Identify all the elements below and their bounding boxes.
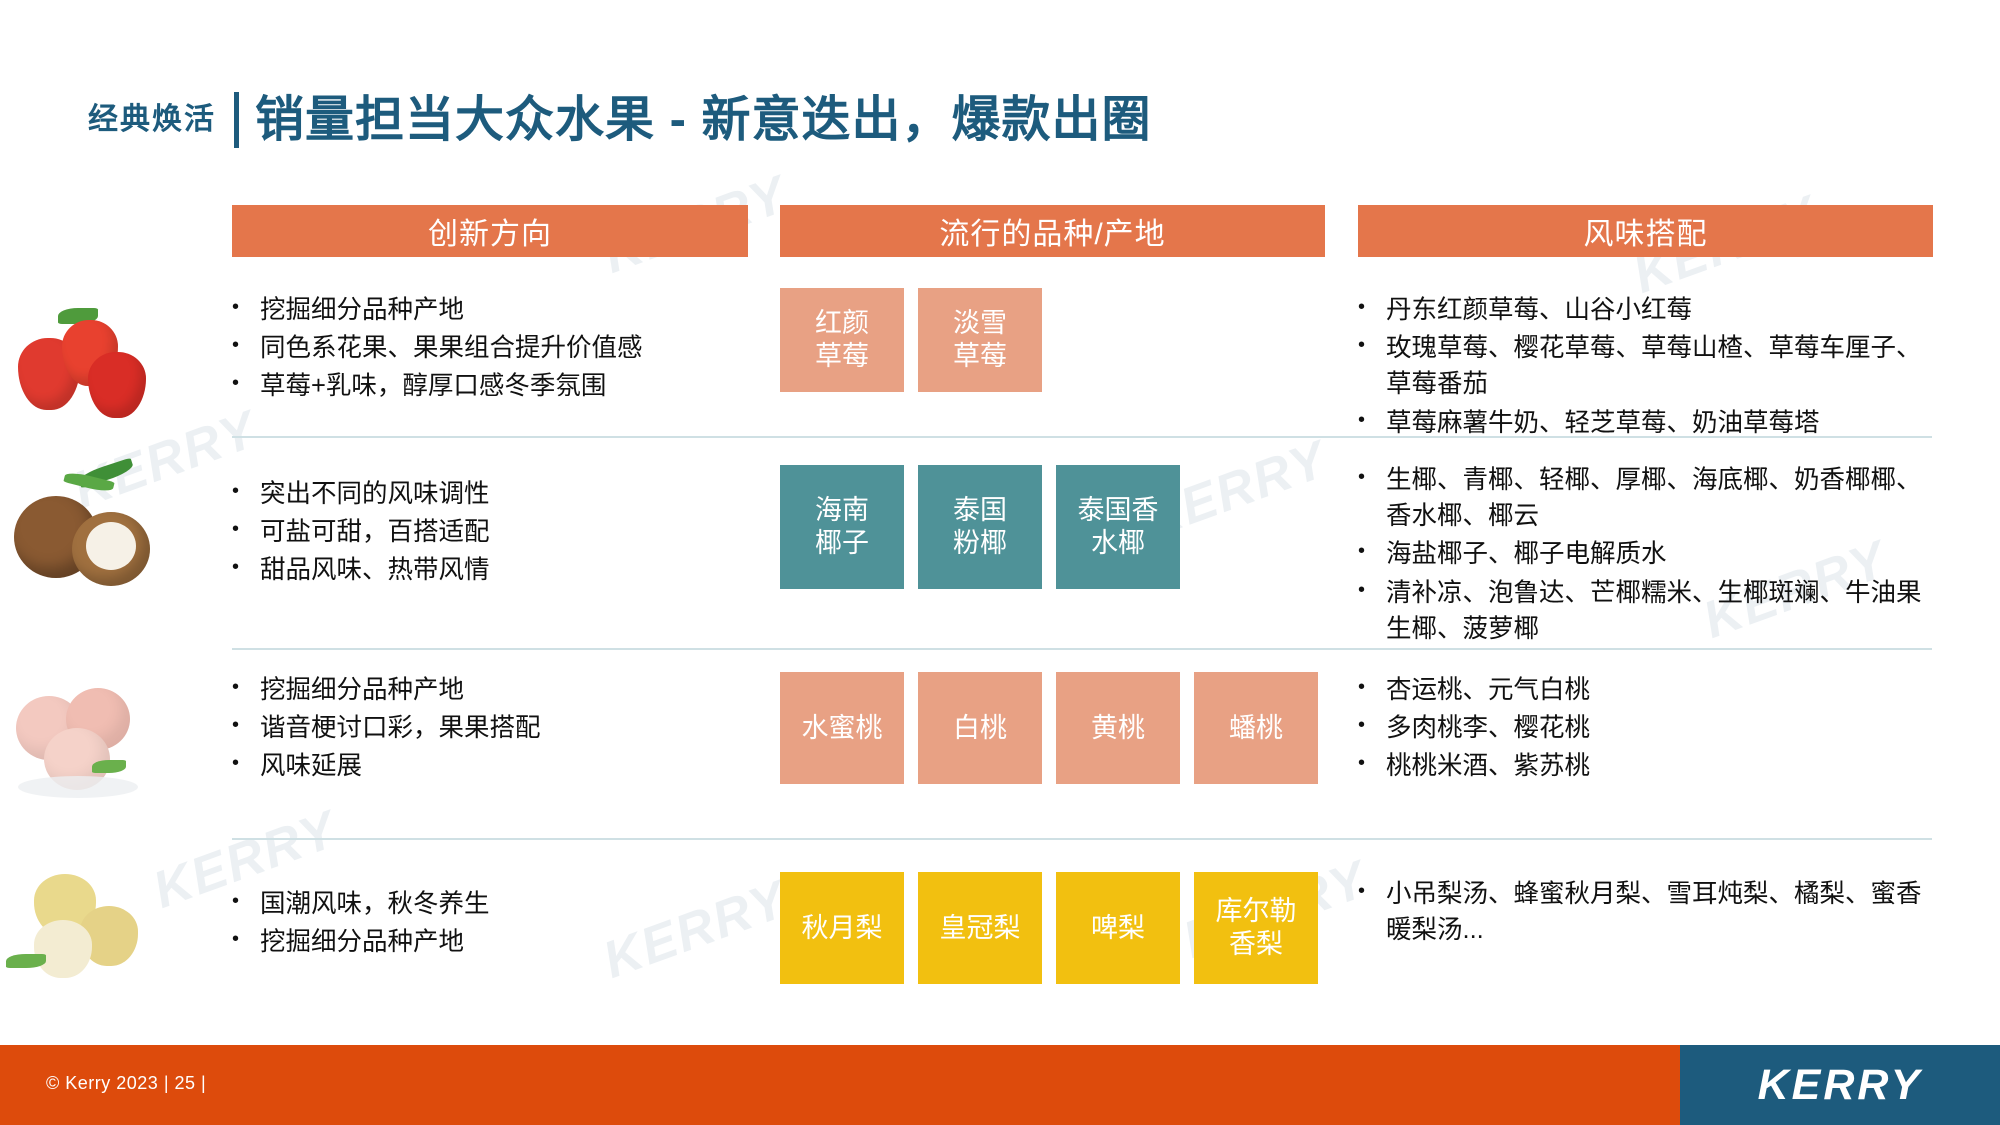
- list-item: •多肉桃李、樱花桃: [1358, 710, 1938, 746]
- variety-chip-group: 秋月梨皇冠梨啤梨库尔勒香梨: [780, 872, 1318, 984]
- title-eyebrow: 经典焕活: [88, 105, 234, 135]
- list-item: •生椰、青椰、轻椰、厚椰、海底椰、奶香椰椰、香水椰、椰云: [1358, 462, 1938, 534]
- bullet-dot: •: [232, 672, 260, 708]
- flavor-pairing-list: •生椰、青椰、轻椰、厚椰、海底椰、奶香椰椰、香水椰、椰云•海盐椰子、椰子电解质水…: [1358, 462, 1938, 649]
- list-item: •海盐椰子、椰子电解质水: [1358, 536, 1938, 572]
- variety-chip-label: 啤梨: [1091, 913, 1145, 943]
- bullet-dot: •: [1358, 536, 1386, 572]
- list-item-label: 生椰、青椰、轻椰、厚椰、海底椰、奶香椰椰、香水椰、椰云: [1386, 462, 1938, 534]
- list-item: •挖掘细分品种产地: [232, 672, 732, 708]
- variety-chip[interactable]: 海南椰子: [780, 465, 904, 589]
- list-item: •风味延展: [232, 748, 732, 784]
- row-divider: [232, 838, 1932, 840]
- variety-chip-label: 泰国香: [1078, 495, 1159, 525]
- variety-chip[interactable]: 秋月梨: [780, 872, 904, 984]
- list-item-label: 突出不同的风味调性: [260, 476, 732, 512]
- bullet-dot: •: [1358, 292, 1386, 328]
- variety-chip[interactable]: 蟠桃: [1194, 672, 1318, 784]
- variety-chip-label: 椰子: [815, 528, 869, 558]
- bullet-dot: •: [232, 330, 260, 366]
- bullet-dot: •: [232, 552, 260, 588]
- strawberry-icon: [0, 290, 166, 440]
- bullet-dot: •: [232, 476, 260, 512]
- list-item-label: 草莓+乳味，醇厚口感冬季氛围: [260, 368, 732, 404]
- list-item: •挖掘细分品种产地: [232, 292, 732, 328]
- list-item-label: 小吊梨汤、蜂蜜秋月梨、雪耳炖梨、橘梨、蜜香暖梨汤...: [1386, 876, 1938, 948]
- list-item-label: 海盐椰子、椰子电解质水: [1386, 536, 1938, 572]
- bullet-dot: •: [232, 710, 260, 746]
- copyright-text: © Kerry 2023 | 25 |: [46, 1073, 206, 1094]
- list-item: •桃桃米酒、紫苏桃: [1358, 748, 1938, 784]
- coconut-icon: [0, 460, 166, 610]
- list-item: •可盐可甜，百搭适配: [232, 514, 732, 550]
- column-header-innovation: 创新方向: [232, 205, 748, 257]
- innovation-directions-list: •突出不同的风味调性•可盐可甜，百搭适配•甜品风味、热带风情: [232, 476, 732, 591]
- list-item-label: 桃桃米酒、紫苏桃: [1386, 748, 1938, 784]
- bullet-dot: •: [1358, 462, 1386, 534]
- variety-chip-label: 草莓: [953, 341, 1007, 371]
- list-item: •同色系花果、果果组合提升价值感: [232, 330, 732, 366]
- variety-chip[interactable]: 皇冠梨: [918, 872, 1042, 984]
- list-item-label: 国潮风味，秋冬养生: [260, 886, 732, 922]
- list-item-label: 挖掘细分品种产地: [260, 924, 732, 960]
- variety-chip[interactable]: 啤梨: [1056, 872, 1180, 984]
- kerry-logo-text: KERRY: [1758, 1061, 1923, 1110]
- bullet-dot: •: [1358, 575, 1386, 647]
- list-item-label: 谐音梗讨口彩，果果搭配: [260, 710, 732, 746]
- list-item-label: 甜品风味、热带风情: [260, 552, 732, 588]
- variety-chip-group: 海南椰子泰国粉椰泰国香水椰: [780, 465, 1180, 589]
- list-item: •玫瑰草莓、樱花草莓、草莓山楂、草莓车厘子、草莓番茄: [1358, 330, 1938, 402]
- list-item-label: 杏运桃、元气白桃: [1386, 672, 1938, 708]
- variety-chip-label: 蟠桃: [1229, 713, 1283, 743]
- bullet-dot: •: [232, 368, 260, 404]
- variety-chip-label: 草莓: [815, 341, 869, 371]
- list-item: •国潮风味，秋冬养生: [232, 886, 732, 922]
- innovation-directions-list: •国潮风味，秋冬养生•挖掘细分品种产地: [232, 886, 732, 962]
- variety-chip-label: 水蜜桃: [802, 713, 883, 743]
- innovation-directions-list: •挖掘细分品种产地•同色系花果、果果组合提升价值感•草莓+乳味，醇厚口感冬季氛围: [232, 292, 732, 407]
- bullet-dot: •: [232, 514, 260, 550]
- variety-chip-label: 黄桃: [1091, 713, 1145, 743]
- variety-chip-label: 香梨: [1229, 929, 1283, 959]
- column-header-varieties: 流行的品种/产地: [780, 205, 1325, 257]
- list-item-label: 挖掘细分品种产地: [260, 292, 732, 328]
- variety-chip[interactable]: 白桃: [918, 672, 1042, 784]
- list-item: •突出不同的风味调性: [232, 476, 732, 512]
- variety-chip-label: 粉椰: [953, 528, 1007, 558]
- variety-chip-label: 水椰: [1091, 528, 1145, 558]
- variety-chip[interactable]: 红颜草莓: [780, 288, 904, 392]
- page-title: 经典焕活 销量担当大众水果 - 新意迭出，爆款出圈: [88, 92, 1152, 148]
- list-item-label: 风味延展: [260, 748, 732, 784]
- bullet-dot: •: [232, 924, 260, 960]
- innovation-directions-list: •挖掘细分品种产地•谐音梗讨口彩，果果搭配•风味延展: [232, 672, 732, 787]
- list-item-label: 清补凉、泡鲁达、芒椰糯米、生椰斑斓、牛油果生椰、菠萝椰: [1386, 575, 1938, 647]
- bullet-dot: •: [1358, 672, 1386, 708]
- variety-chip[interactable]: 水蜜桃: [780, 672, 904, 784]
- title-divider: [234, 92, 239, 148]
- list-item: •杏运桃、元气白桃: [1358, 672, 1938, 708]
- list-item: •小吊梨汤、蜂蜜秋月梨、雪耳炖梨、橘梨、蜜香暖梨汤...: [1358, 876, 1938, 948]
- flavor-pairing-list: •丹东红颜草莓、山谷小红莓•玫瑰草莓、樱花草莓、草莓山楂、草莓车厘子、草莓番茄•…: [1358, 292, 1938, 443]
- row-divider: [232, 648, 1932, 650]
- variety-chip-label: 泰国: [953, 495, 1007, 525]
- list-item-label: 玫瑰草莓、樱花草莓、草莓山楂、草莓车厘子、草莓番茄: [1386, 330, 1938, 402]
- list-item-label: 挖掘细分品种产地: [260, 672, 732, 708]
- bullet-dot: •: [232, 748, 260, 784]
- variety-chip-label: 库尔勒: [1216, 896, 1297, 926]
- variety-chip-label: 海南: [815, 495, 869, 525]
- list-item: •谐音梗讨口彩，果果搭配: [232, 710, 732, 746]
- variety-chip[interactable]: 泰国粉椰: [918, 465, 1042, 589]
- title-main: 销量担当大众水果 - 新意迭出，爆款出圈: [255, 96, 1152, 145]
- bullet-dot: •: [1358, 710, 1386, 746]
- list-item: •甜品风味、热带风情: [232, 552, 732, 588]
- bullet-dot: •: [232, 292, 260, 328]
- column-header-flavor-pairing: 风味搭配: [1358, 205, 1933, 257]
- row-divider: [232, 436, 1932, 438]
- variety-chip-label: 秋月梨: [802, 913, 883, 943]
- variety-chip-label: 皇冠梨: [940, 913, 1021, 943]
- list-item-label: 多肉桃李、樱花桃: [1386, 710, 1938, 746]
- variety-chip[interactable]: 泰国香水椰: [1056, 465, 1180, 589]
- bullet-dot: •: [232, 886, 260, 922]
- variety-chip[interactable]: 淡雪草莓: [918, 288, 1042, 392]
- list-item: •丹东红颜草莓、山谷小红莓: [1358, 292, 1938, 328]
- variety-chip-label: 淡雪: [953, 308, 1007, 338]
- peach-icon: [0, 672, 166, 822]
- list-item: •挖掘细分品种产地: [232, 924, 732, 960]
- list-item-label: 丹东红颜草莓、山谷小红莓: [1386, 292, 1938, 328]
- slide: KERRY KERRY KERRY KERRY KERRY KERRY KERR…: [0, 0, 2000, 1125]
- list-item: •清补凉、泡鲁达、芒椰糯米、生椰斑斓、牛油果生椰、菠萝椰: [1358, 575, 1938, 647]
- variety-chip-label: 白桃: [953, 713, 1007, 743]
- variety-chip-group: 水蜜桃白桃黄桃蟠桃: [780, 672, 1318, 784]
- flavor-pairing-list: •杏运桃、元气白桃•多肉桃李、樱花桃•桃桃米酒、紫苏桃: [1358, 672, 1938, 787]
- variety-chip-group: 红颜草莓淡雪草莓: [780, 288, 1042, 392]
- kerry-logo: KERRY: [1680, 1045, 2000, 1125]
- flavor-pairing-list: •小吊梨汤、蜂蜜秋月梨、雪耳炖梨、橘梨、蜜香暖梨汤...: [1358, 876, 1938, 950]
- list-item-label: 可盐可甜，百搭适配: [260, 514, 732, 550]
- bullet-dot: •: [1358, 330, 1386, 402]
- list-item-label: 同色系花果、果果组合提升价值感: [260, 330, 732, 366]
- pear-icon: [0, 862, 166, 1012]
- bullet-dot: •: [1358, 748, 1386, 784]
- bullet-dot: •: [1358, 876, 1386, 948]
- footer-bar: © Kerry 2023 | 25 | KERRY: [0, 1045, 2000, 1125]
- variety-chip[interactable]: 库尔勒香梨: [1194, 872, 1318, 984]
- variety-chip-label: 红颜: [815, 308, 869, 338]
- variety-chip[interactable]: 黄桃: [1056, 672, 1180, 784]
- list-item: •草莓+乳味，醇厚口感冬季氛围: [232, 368, 732, 404]
